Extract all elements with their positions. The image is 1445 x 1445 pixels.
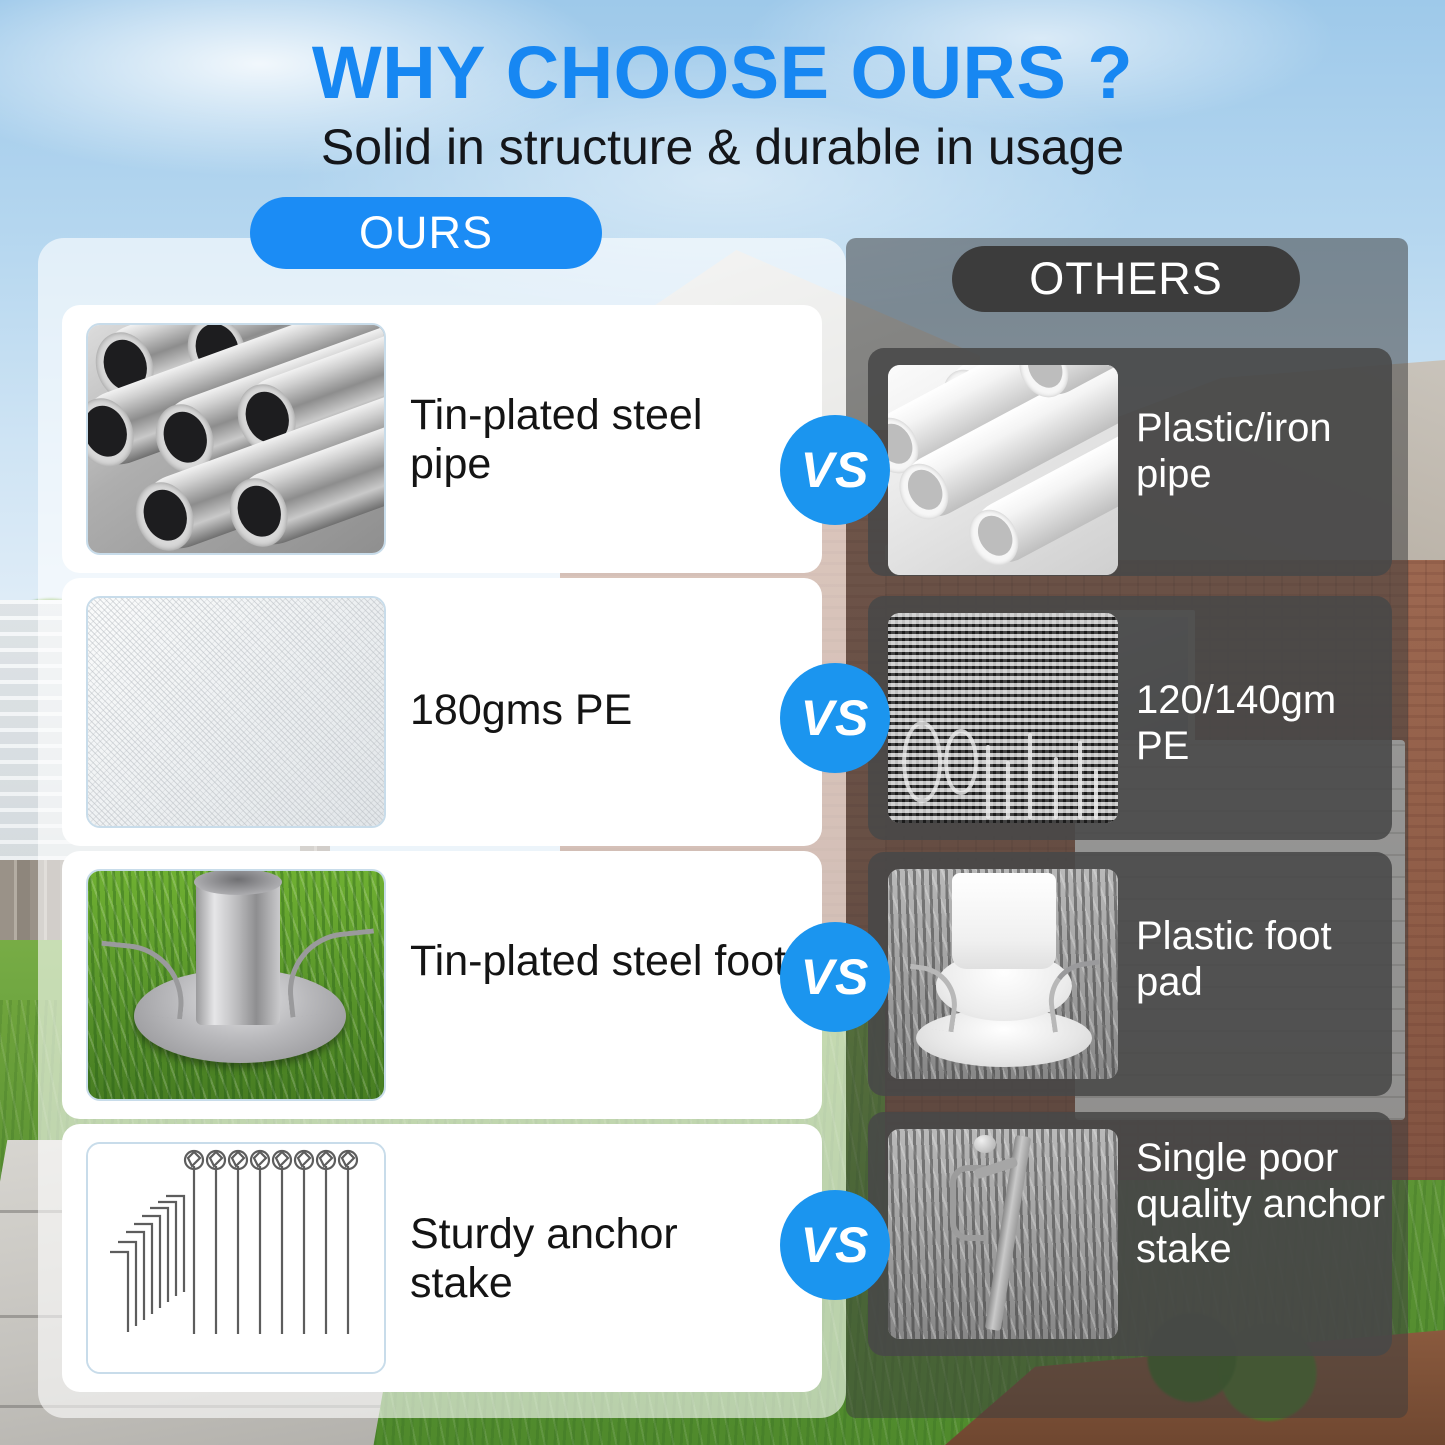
steel-foot-pad-on-grass-image — [86, 869, 386, 1101]
vs-badge-1: VS — [780, 415, 890, 525]
anchor-stake-set-image — [86, 1142, 386, 1374]
others-row-2-label: 120/140gm PE — [1136, 678, 1386, 769]
others-row-2-card: 120/140gm PE — [868, 596, 1392, 840]
ours-row-3-label: Tin-plated steel foot — [410, 937, 790, 986]
comparison-infographic: WHY CHOOSE OURS ? Solid in structure & d… — [0, 0, 1445, 1445]
steel-pipe-bundle-image — [86, 323, 386, 555]
others-column-badge: OTHERS — [952, 246, 1300, 312]
ours-row-1-card: Tin-plated steel pipe — [62, 305, 822, 573]
page-title: WHY CHOOSE OURS ? — [0, 30, 1445, 115]
ours-row-2-card: 180gms PE — [62, 578, 822, 846]
others-row-3-label: Plastic foot pad — [1136, 914, 1386, 1005]
plastic-foot-pad-on-grass-image — [888, 869, 1118, 1079]
ours-row-2-label: 180gms PE — [410, 686, 790, 735]
ours-column-badge: OURS — [250, 197, 602, 269]
vs-badge-4: VS — [780, 1190, 890, 1300]
others-row-1-label: Plastic/iron pipe — [1136, 406, 1386, 497]
ours-row-4-card: Sturdy anchor stake — [62, 1124, 822, 1392]
stake-illustration — [88, 1144, 386, 1374]
vs-badge-3: VS — [780, 922, 890, 1032]
others-row-1-card: Plastic/iron pipe — [868, 348, 1392, 576]
ours-row-1-label: Tin-plated steel pipe — [410, 391, 790, 489]
vs-badge-2: VS — [780, 663, 890, 773]
others-row-4-card: Single poor quality anchor stake — [868, 1112, 1392, 1356]
ours-row-3-card: Tin-plated steel foot — [62, 851, 822, 1119]
others-row-4-label: Single poor quality anchor stake — [1136, 1136, 1386, 1273]
others-row-3-card: Plastic foot pad — [868, 852, 1392, 1096]
coarse-frayed-mesh-image — [888, 613, 1118, 823]
page-subtitle: Solid in structure & durable in usage — [0, 118, 1445, 176]
single-stake-in-grass-image — [888, 1129, 1118, 1339]
fine-white-pe-fabric-image — [86, 596, 386, 828]
ours-row-4-label: Sturdy anchor stake — [410, 1210, 790, 1308]
white-pvc-pipe-image — [888, 365, 1118, 575]
